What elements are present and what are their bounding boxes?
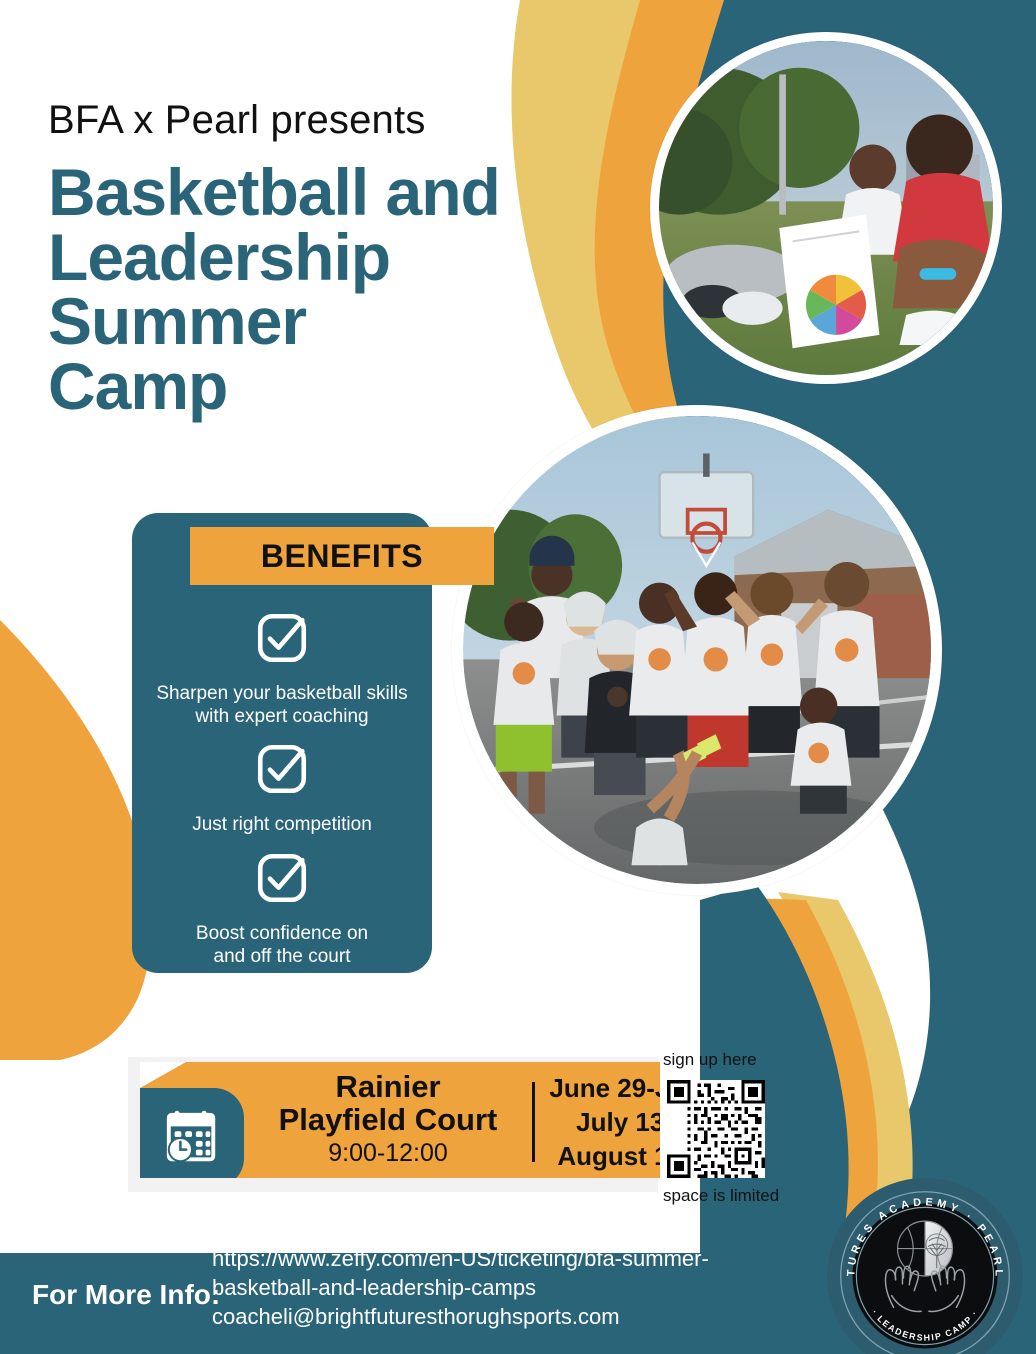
benefits-list: Sharpen your basketball skills with expe… — [132, 609, 432, 980]
benefits-heading: BENEFITS — [190, 527, 494, 585]
qr-code-icon[interactable] — [667, 1080, 765, 1178]
campers-journaling-photo — [650, 32, 1002, 384]
footer-url-line-2[interactable]: basketball-and-leadership-camps — [212, 1273, 709, 1302]
venue-time: 9:00-12:00 — [258, 1139, 518, 1168]
benefit-item-2: Just right competition — [132, 740, 432, 836]
title-line-1: Basketball and — [48, 160, 648, 225]
venue-line-1: Rainier — [258, 1070, 518, 1103]
footer-bar: For More Info: https://www.zeffy.com/en-… — [0, 1253, 920, 1354]
venue-line-2: Playfield Court — [258, 1103, 518, 1136]
bright-futures-academy-logo: BRIGHT FUTURES ACADEMY · PEARL PROGRAM ·… — [827, 1178, 1023, 1354]
checkbox-icon — [132, 740, 432, 803]
title-line-3: Camp — [48, 354, 648, 419]
footer-email[interactable]: coacheli@brightfuturesthorughsports.com — [212, 1302, 709, 1331]
page-title: Basketball and Leadership Summer Camp — [48, 160, 648, 419]
venue-info: Rainier Playfield Court 9:00-12:00 — [258, 1070, 518, 1168]
checkbox-icon — [132, 849, 432, 912]
footer-label: For More Info: — [32, 1279, 220, 1311]
camp-group-photo-image — [463, 416, 931, 884]
checkbox-icon — [132, 609, 432, 672]
signup-qr-block[interactable]: sign up here — [663, 1050, 813, 1207]
benefit-text-2: Just right competition — [132, 813, 432, 836]
benefit-text-3: Boost confidence on and off the court — [132, 922, 432, 968]
footer-url-line-1[interactable]: https://www.zeffy.com/en-US/ticketing/bf… — [212, 1244, 709, 1273]
qr-caption-top: sign up here — [663, 1050, 813, 1070]
campers-journaling-photo-image — [659, 41, 993, 375]
info-bar: Rainier Playfield Court 9:00-12:00 June … — [140, 1062, 660, 1178]
benefit-item-3: Boost confidence on and off the court — [132, 849, 432, 968]
benefit-item-1: Sharpen your basketball skills with expe… — [132, 609, 432, 728]
calendar-clock-icon — [140, 1088, 244, 1188]
footer-contact-lines: https://www.zeffy.com/en-US/ticketing/bf… — [212, 1244, 709, 1331]
title-line-2: Leadership Summer — [48, 225, 648, 354]
info-bar-divider — [532, 1082, 535, 1162]
camp-group-photo — [452, 405, 942, 895]
info-bar-notch — [140, 1062, 186, 1088]
benefit-text-1: Sharpen your basketball skills with expe… — [132, 682, 432, 728]
headline-block: BFA x Pearl presents Basketball and Lead… — [48, 98, 648, 419]
benefits-card: BENEFITS Sharpen your basketball skills … — [132, 513, 432, 973]
flyer-poster: BFA x Pearl presents Basketball and Lead… — [0, 0, 1036, 1354]
presents-line: BFA x Pearl presents — [48, 98, 648, 142]
qr-caption-bottom: space is limited — [663, 1186, 813, 1206]
